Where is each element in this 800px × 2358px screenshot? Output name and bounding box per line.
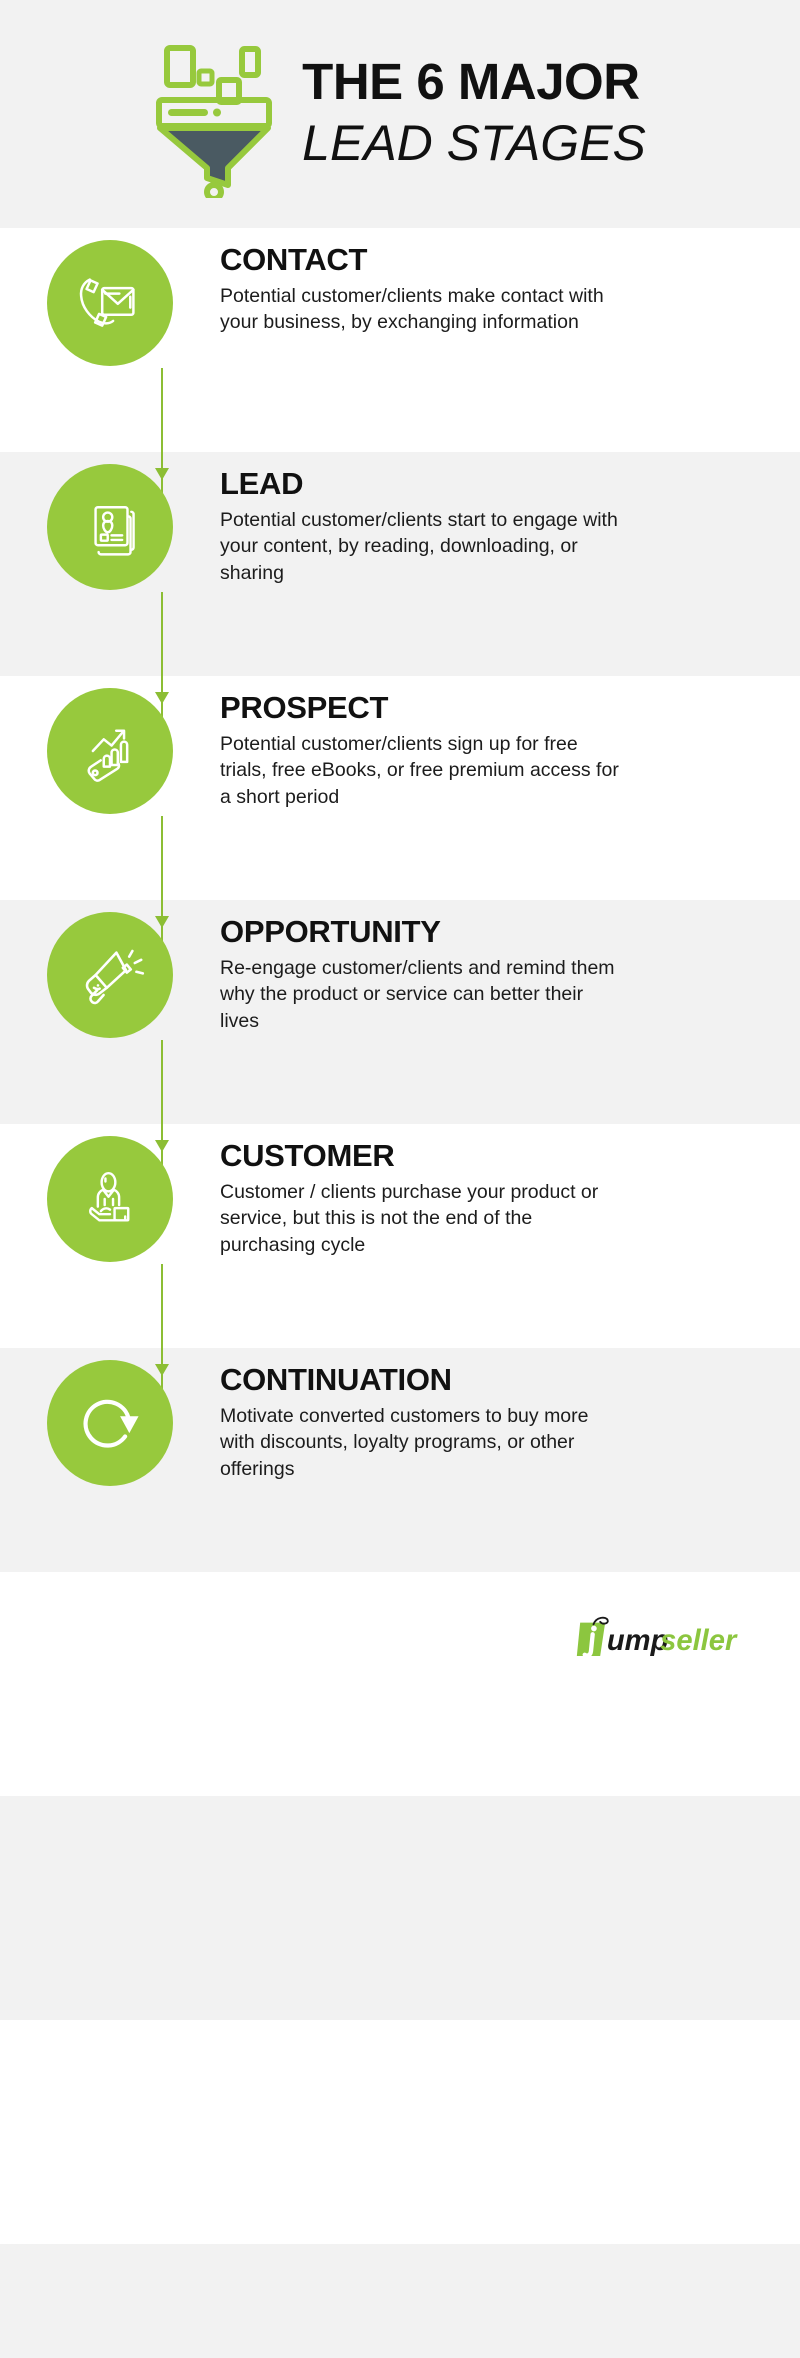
- stage-description-prospect: Potential customer/clients sign up for f…: [220, 731, 620, 812]
- infographic-header: THE 6 MAJOR LEAD STAGES: [0, 0, 800, 228]
- stage-badge-wrap: [0, 900, 220, 1038]
- stage-text-opportunity: OPPORTUNITYRe-engage customer/clients an…: [220, 900, 800, 1035]
- stage-description-contact: Potential customer/clients make contact …: [220, 283, 620, 337]
- stage-badge-wrap: [0, 676, 220, 814]
- stage-badge-lead[interactable]: [47, 464, 173, 590]
- stage-description-customer: Customer / clients purchase your product…: [220, 1179, 620, 1260]
- stage-badge-contact[interactable]: [47, 240, 173, 366]
- stage-text-prospect: PROSPECTPotential customer/clients sign …: [220, 676, 800, 811]
- page-subtitle: LEAD STAGES: [302, 115, 646, 173]
- stage-customer: CUSTOMERCustomer / clients purchase your…: [0, 1124, 800, 1348]
- stage-opportunity: OPPORTUNITYRe-engage customer/clients an…: [0, 900, 800, 1124]
- hand-growth-chart-icon: [71, 712, 149, 790]
- brand-seller: seller: [660, 1625, 738, 1657]
- stage-title-opportunity: OPPORTUNITY: [220, 916, 776, 949]
- stage-badge-continuation[interactable]: [47, 1360, 173, 1486]
- stage-description-continuation: Motivate converted customers to buy more…: [220, 1403, 620, 1484]
- stage-title-lead: LEAD: [220, 468, 776, 501]
- brand-ump: ump: [607, 1625, 669, 1657]
- stage-text-contact: CONTACTPotential customer/clients make c…: [220, 228, 800, 336]
- stage-badge-wrap: [0, 228, 220, 366]
- stage-badge-wrap: [0, 1348, 220, 1486]
- stage-description-opportunity: Re-engage customer/clients and remind th…: [220, 955, 620, 1036]
- stage-continuation: CONTINUATIONMotivate converted customers…: [0, 1348, 800, 1572]
- stage-badge-wrap: [0, 452, 220, 590]
- footer: ump seller: [0, 1572, 800, 1700]
- stage-title-prospect: PROSPECT: [220, 692, 776, 725]
- phone-envelope-icon: [71, 264, 149, 342]
- stage-list: CONTACTPotential customer/clients make c…: [0, 228, 800, 1572]
- funnel-icon: [154, 30, 284, 198]
- circular-arrow-icon: [68, 1381, 152, 1465]
- page-title: THE 6 MAJOR: [302, 56, 646, 107]
- stage-text-lead: LEADPotential customer/clients start to …: [220, 452, 800, 587]
- band-7: [0, 1796, 800, 2020]
- stage-text-customer: CUSTOMERCustomer / clients purchase your…: [220, 1124, 800, 1259]
- band-8: [0, 2020, 800, 2244]
- band-9: [0, 2244, 800, 2358]
- stage-prospect: PROSPECTPotential customer/clients sign …: [0, 676, 800, 900]
- person-hand-box-icon: [72, 1161, 148, 1237]
- stage-title-customer: CUSTOMER: [220, 1140, 776, 1173]
- stage-badge-opportunity[interactable]: [47, 912, 173, 1038]
- id-documents-icon: [72, 489, 148, 565]
- jumpseller-tag-logo[interactable]: ump seller: [568, 1611, 744, 1661]
- stage-badge-prospect[interactable]: [47, 688, 173, 814]
- stage-title-continuation: CONTINUATION: [220, 1364, 776, 1397]
- stage-title-contact: CONTACT: [220, 244, 776, 277]
- stage-badge-customer[interactable]: [47, 1136, 173, 1262]
- stage-description-lead: Potential customer/clients start to enga…: [220, 507, 620, 588]
- stage-text-continuation: CONTINUATIONMotivate converted customers…: [220, 1348, 800, 1483]
- stage-contact: CONTACTPotential customer/clients make c…: [0, 228, 800, 452]
- stage-badge-wrap: [0, 1124, 220, 1262]
- megaphone-icon: [70, 935, 150, 1015]
- header-titles: THE 6 MAJOR LEAD STAGES: [302, 56, 646, 173]
- stage-lead: LEADPotential customer/clients start to …: [0, 452, 800, 676]
